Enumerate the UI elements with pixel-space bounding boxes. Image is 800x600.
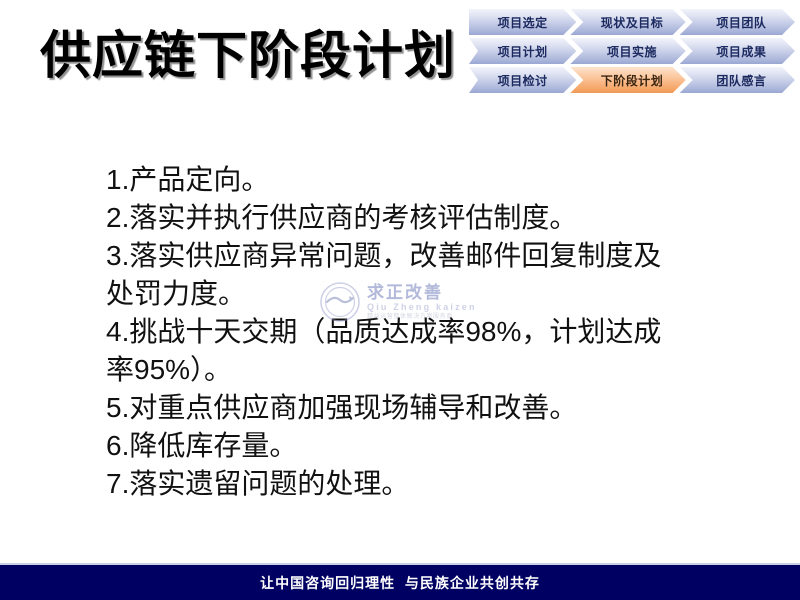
footer-slogan: 让中国咨询回归理性 与民族企业共创共存 xyxy=(260,573,540,593)
phase-chevron-project-review[interactable]: 项目检讨 xyxy=(469,67,576,93)
phase-chevron-status-and-goals[interactable]: 现状及目标 xyxy=(570,9,685,35)
phase-chevron-project-team[interactable]: 项目团队 xyxy=(680,9,795,35)
slide-canvas: 供应链下阶段计划 项目选定 现状及目标 项目团队 项目计划 项目实施 项目成果 … xyxy=(0,0,800,600)
phase-nav-row-2: 项目计划 项目实施 项目成果 xyxy=(469,38,789,64)
phase-navigation: 项目选定 现状及目标 项目团队 项目计划 项目实施 项目成果 项目检讨 下阶段计… xyxy=(469,9,789,93)
phase-chevron-next-stage-plan[interactable]: 下阶段计划 xyxy=(570,67,685,93)
content-list: 1.产品定向。 2.落实并执行供应商的考核评估制度。 3.落实供应商异常问题，改… xyxy=(106,161,706,503)
phase-chevron-project-selection[interactable]: 项目选定 xyxy=(469,9,576,35)
phase-chevron-project-results[interactable]: 项目成果 xyxy=(680,38,795,64)
phase-nav-row-3: 项目检讨 下阶段计划 团队感言 xyxy=(469,67,789,93)
phase-nav-row-1: 项目选定 现状及目标 项目团队 xyxy=(469,9,789,35)
list-item: 7.落实遗留问题的处理。 xyxy=(106,465,706,503)
list-item: 6.降低库存量。 xyxy=(106,427,706,465)
list-item: 1.产品定向。 xyxy=(106,161,706,199)
list-item-continuation: 处罚力度。 xyxy=(106,275,706,313)
list-item: 3.落实供应商异常问题，改善邮件回复制度及 xyxy=(106,237,706,275)
phase-chevron-project-execution[interactable]: 项目实施 xyxy=(570,38,685,64)
list-item: 4.挑战十天交期（品质达成率98%，计划达成 xyxy=(106,313,706,351)
phase-chevron-team-reflections[interactable]: 团队感言 xyxy=(680,67,795,93)
phase-chevron-project-plan[interactable]: 项目计划 xyxy=(469,38,576,64)
list-item-continuation: 率95%）。 xyxy=(106,351,706,389)
page-title: 供应链下阶段计划 xyxy=(40,27,456,84)
list-item: 5.对重点供应商加强现场辅导和改善。 xyxy=(106,389,706,427)
list-item: 2.落实并执行供应商的考核评估制度。 xyxy=(106,199,706,237)
footer-bar: 让中国咨询回归理性 与民族企业共创共存 xyxy=(0,565,800,600)
